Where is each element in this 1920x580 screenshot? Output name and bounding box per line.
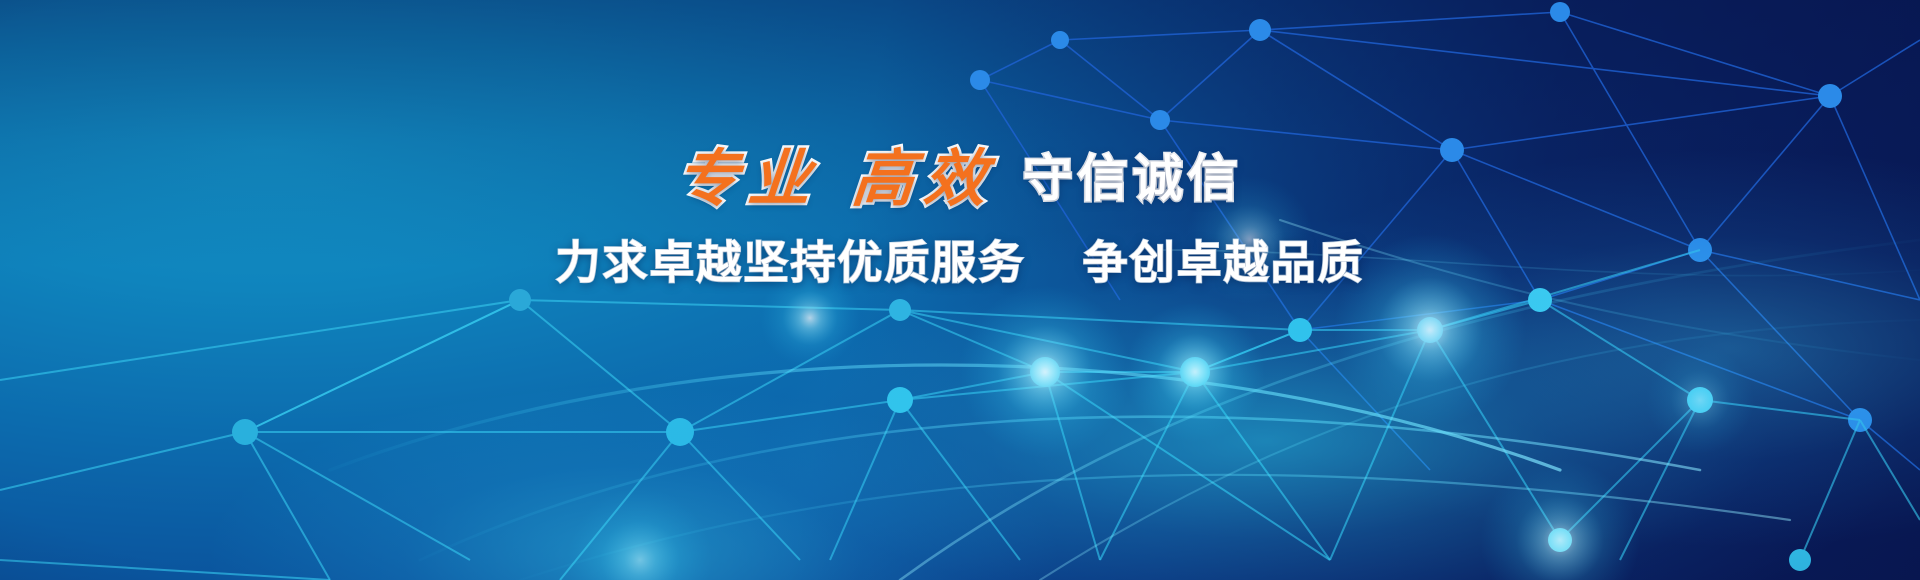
background-vignette: [0, 0, 1920, 580]
hero-banner: 专业 高效 守信诚信 力求卓越坚持优质服务 争创卓越品质: [0, 0, 1920, 580]
